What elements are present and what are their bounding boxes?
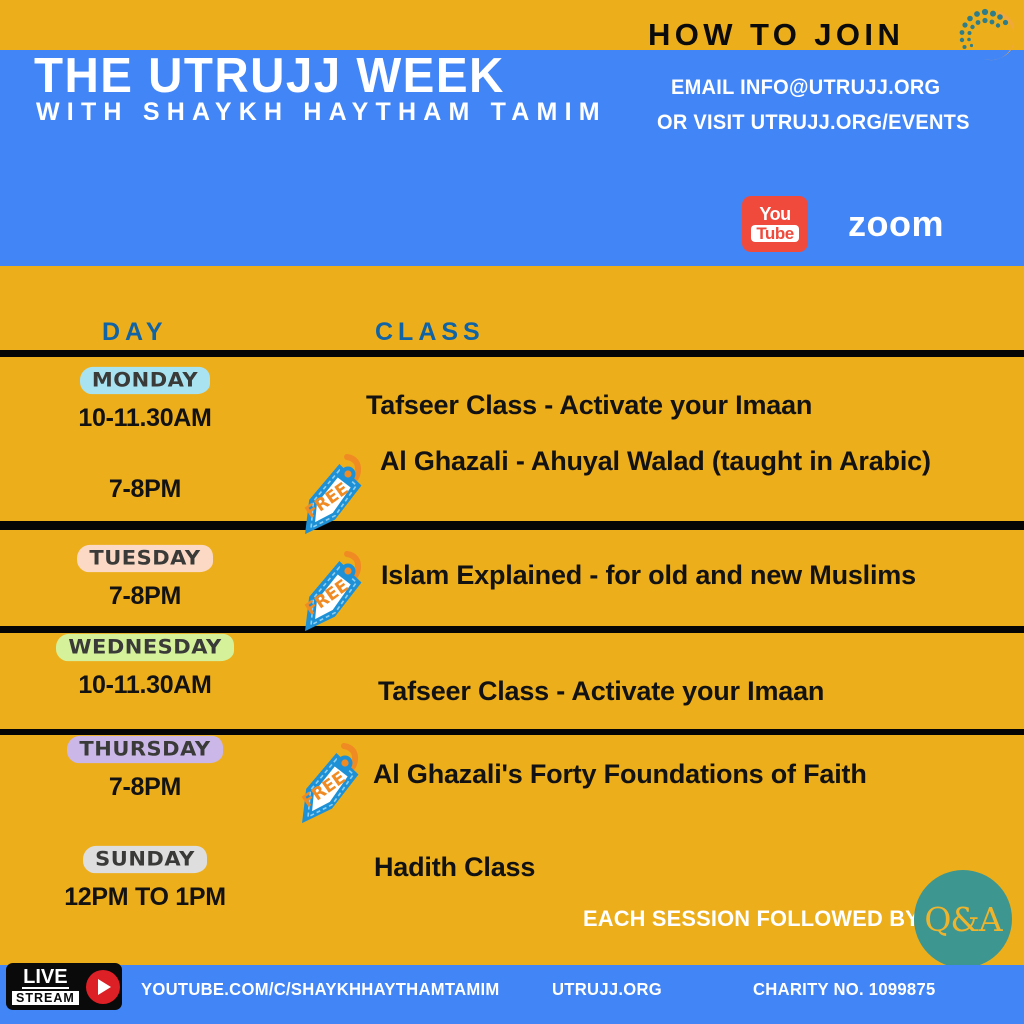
table-row: 7-8PM [35, 466, 255, 504]
zoom-logo[interactable]: zoom [848, 203, 944, 245]
play-triangle [98, 979, 111, 995]
column-header-class: CLASS [375, 318, 485, 347]
day-badge: TUESDAY [77, 545, 212, 572]
qa-badge: Q&A [914, 870, 1012, 968]
class-time: 10-11.30AM [35, 404, 255, 433]
class-name: Tafseer Class - Activate your Imaan [366, 390, 812, 421]
stream-label: STREAM [12, 991, 79, 1005]
followed-by-label: EACH SESSION FOLLOWED BY [583, 906, 920, 932]
class-name: Al Ghazali - Ahuyal Walad (taught in Ara… [380, 446, 931, 477]
table-row: WEDNESDAY 10-11.30AM [35, 633, 255, 700]
table-row: SUNDAY 12PM TO 1PM [35, 845, 255, 912]
live-stream-words: LIVE STREAM [12, 968, 79, 1005]
footer-website-link[interactable]: UTRUJJ.ORG [552, 979, 662, 1000]
day-badge: THURSDAY [67, 736, 222, 763]
class-name: Islam Explained - for old and new Muslim… [381, 560, 916, 591]
visit-line: OR VISIT UTRUJJ.ORG/EVENTS [657, 110, 970, 135]
qa-badge-label: Q&A [924, 900, 1001, 939]
class-time: 7-8PM [35, 582, 255, 611]
youtube-logo-tube: Tube [751, 225, 798, 242]
page-title: THE UTRUJJ WEEK [34, 52, 505, 101]
free-tag-icon: FREE [282, 736, 378, 832]
class-name: Hadith Class [374, 852, 535, 883]
table-row: THURSDAY 7-8PM [35, 735, 255, 802]
table-row: TUESDAY 7-8PM [35, 544, 255, 611]
row-divider [0, 626, 1024, 633]
footer-youtube-link[interactable]: YOUTUBE.COM/C/SHAYKHHAYTHAMTAMIM [141, 979, 500, 1000]
class-time: 7-8PM [35, 773, 255, 802]
class-name: Tafseer Class - Activate your Imaan [378, 676, 824, 707]
live-label: LIVE [22, 968, 68, 989]
email-line: EMAIL INFO@UTRUJJ.ORG [671, 75, 940, 100]
class-time: 7-8PM [35, 475, 255, 504]
live-stream-badge: LIVE STREAM [6, 963, 122, 1010]
youtube-logo-you: You [759, 206, 790, 223]
page-subtitle: WITH SHAYKH HAYTHAM TAMIM [36, 100, 607, 125]
day-badge: MONDAY [80, 367, 210, 394]
row-divider [0, 521, 1024, 530]
free-tag-icon: FREE [285, 447, 381, 543]
table-row: MONDAY 10-11.30AM [35, 366, 255, 433]
footer-charity-no: CHARITY NO. 1099875 [753, 979, 936, 1000]
how-to-join-heading: HOW TO JOIN [648, 17, 904, 53]
column-header-day: DAY [102, 318, 168, 347]
free-tag-icon: FREE [285, 544, 381, 640]
youtube-logo[interactable]: You Tube [742, 196, 808, 252]
row-divider [0, 350, 1024, 357]
play-icon[interactable] [86, 970, 120, 1004]
class-name: Al Ghazali's Forty Foundations of Faith [373, 759, 867, 790]
day-badge: SUNDAY [83, 846, 207, 873]
class-time: 10-11.30AM [35, 671, 255, 700]
day-badge: WEDNESDAY [56, 634, 233, 661]
crescent-moon-logo [956, 6, 1014, 64]
class-time: 12PM TO 1PM [35, 883, 255, 912]
